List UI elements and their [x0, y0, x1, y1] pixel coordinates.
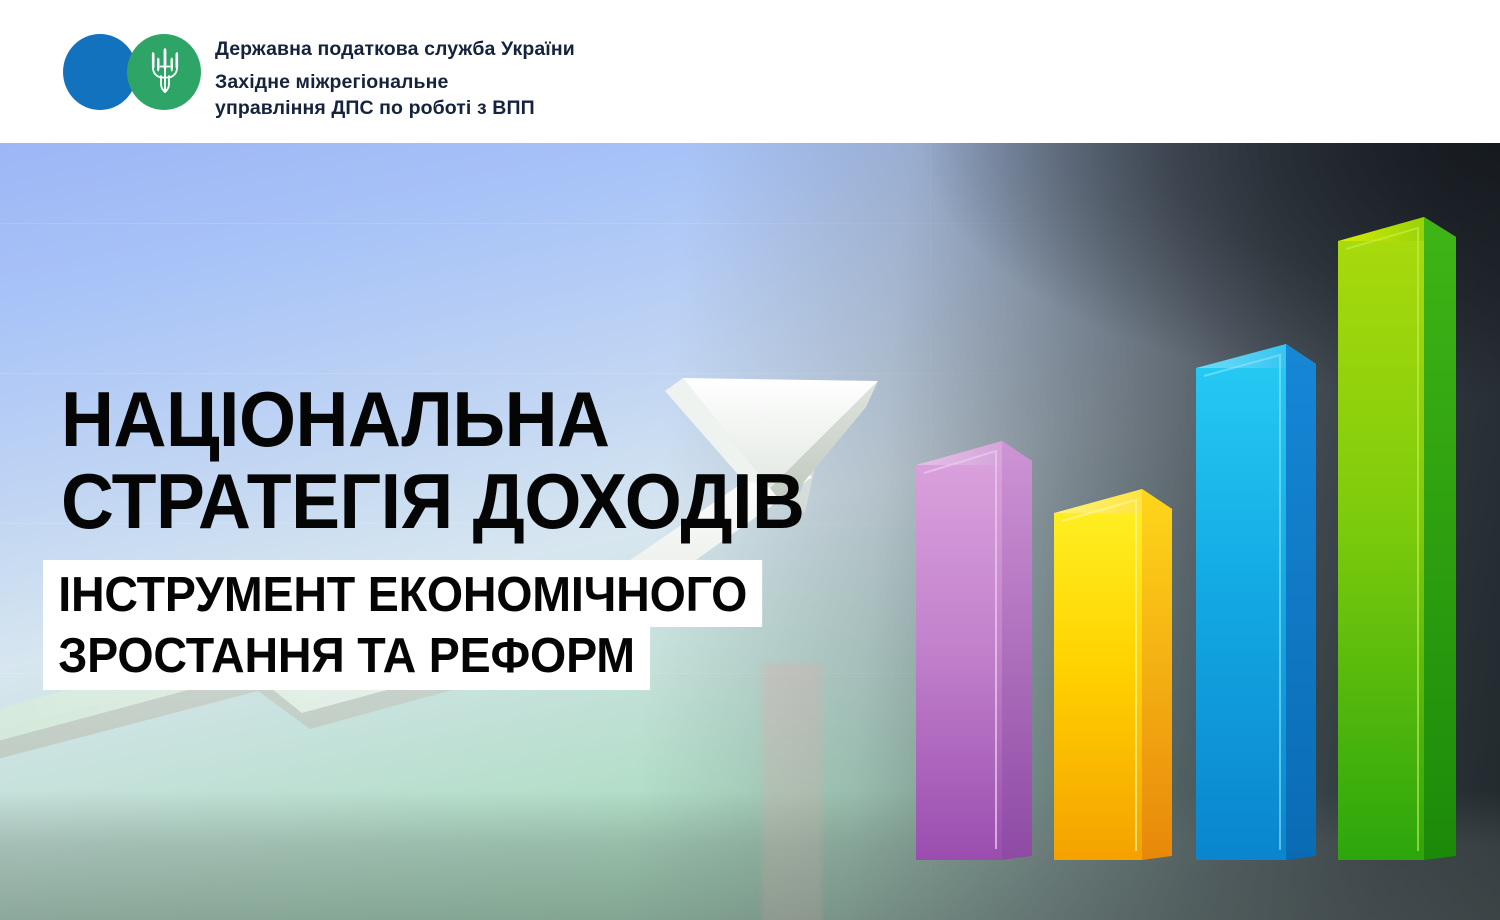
subtitle-line-2: ЗРОСТАННЯ ТА РЕФОРМ — [43, 627, 650, 690]
headline-line-2: СТРАТЕГІЯ ДОХОДІВ — [61, 460, 907, 542]
headline-line-1: НАЦІОНАЛЬНА — [61, 378, 907, 460]
logo-circle-blue-icon — [63, 34, 137, 110]
bar-blue — [1196, 344, 1316, 860]
site-header: Державна податкова служба України Західн… — [0, 0, 1500, 143]
header-dept-line-2: управління ДПС по роботі з ВПП — [215, 96, 575, 122]
hero-banner: НАЦІОНАЛЬНА СТРАТЕГІЯ ДОХОДІВ ІНСТРУМЕНТ… — [0, 143, 1500, 920]
bar-green — [1338, 217, 1456, 860]
bar-purple — [916, 441, 1032, 860]
subtitle-line-1: ІНСТРУМЕНТ ЕКОНОМІЧНОГО — [43, 560, 762, 627]
header-titles: Державна податкова служба України Західн… — [215, 36, 575, 121]
poster-root: Державна податкова служба України Західн… — [0, 0, 1500, 920]
header-dept-line-1: Західне міжрегіональне — [215, 70, 575, 96]
header-org-name: Державна податкова служба України — [215, 36, 575, 63]
bar-yellow — [1054, 489, 1172, 860]
ukraine-tryzub-icon — [149, 46, 181, 98]
banner-headline: НАЦІОНАЛЬНА СТРАТЕГІЯ ДОХОДІВ — [61, 378, 907, 542]
banner-subtitle: ІНСТРУМЕНТ ЕКОНОМІЧНОГО ЗРОСТАННЯ ТА РЕФ… — [43, 560, 800, 690]
dps-logo[interactable] — [63, 34, 203, 110]
